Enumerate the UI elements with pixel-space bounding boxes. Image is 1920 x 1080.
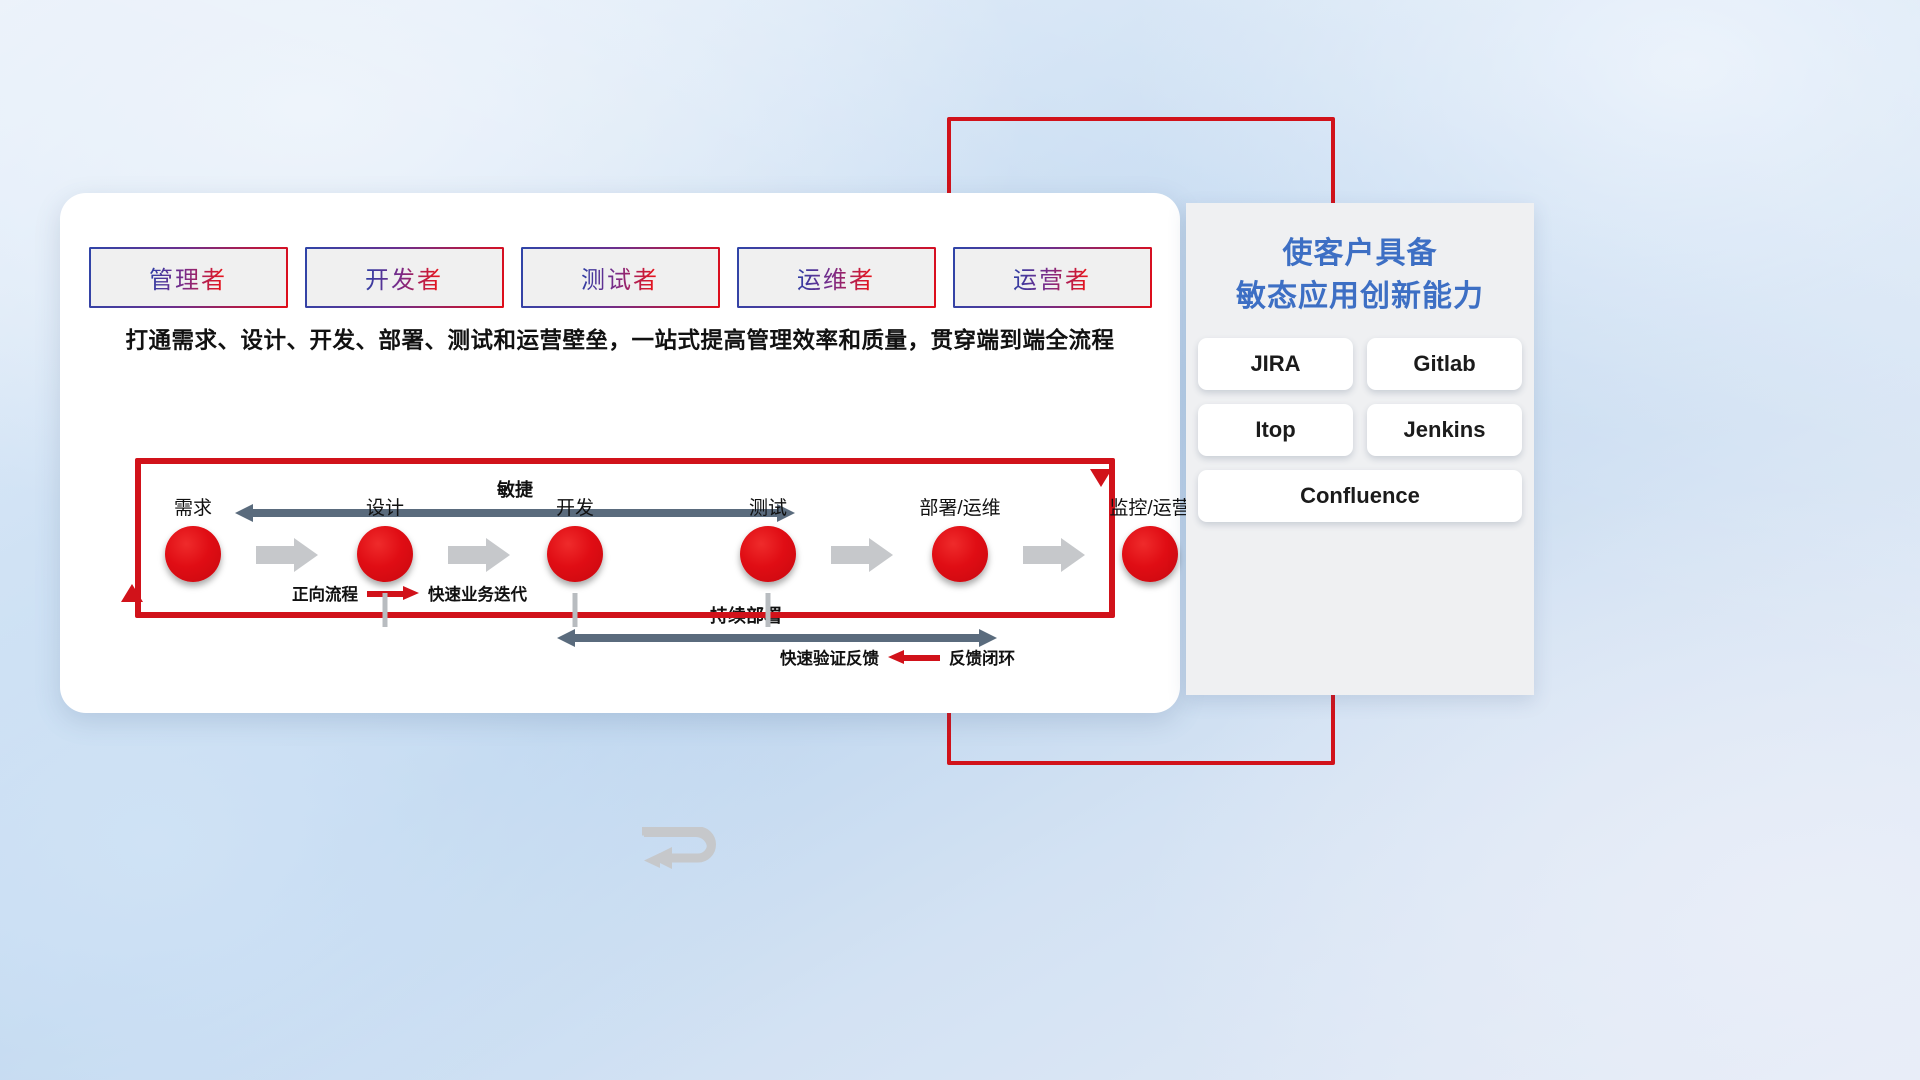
tool-chip-confluence[interactable]: Confluence: [1198, 470, 1522, 522]
role-label: 运维者: [797, 260, 875, 295]
pipeline-stage-deploy-ops[interactable]: 部署/运维: [900, 493, 1020, 582]
stage-dot-icon: [1122, 526, 1178, 582]
role-box-operations[interactable]: 运维者: [738, 248, 934, 306]
stage-stem: [766, 593, 771, 627]
role-box-business-operator[interactable]: 运营者: [954, 248, 1150, 306]
tool-chip-jenkins[interactable]: Jenkins: [1367, 404, 1522, 456]
stage-stem: [573, 593, 578, 627]
feedback-loop-arrow-down-icon: [1090, 469, 1112, 487]
value-proposition-panel: 使客户具备 敏态应用创新能力 JIRA Gitlab Itop Jenkins …: [1186, 203, 1534, 695]
arrow-head-left: [557, 629, 575, 647]
headline-text: 打通需求、设计、开发、部署、测试和运营壁垒，一站式提高管理效率和质量，贯穿端到端…: [60, 323, 1180, 355]
arrow-bar: [574, 634, 980, 642]
pipeline-stage-requirements[interactable]: 需求: [133, 493, 253, 582]
devops-pipeline: 需求 设计 开发 测试: [60, 493, 1180, 623]
stage-label: 测试: [708, 493, 828, 520]
chevron-head: [294, 538, 318, 572]
loop-back-arrow-icon: [638, 827, 724, 873]
pipeline-stage-develop[interactable]: 开发: [515, 493, 635, 582]
role-label: 管理者: [149, 260, 227, 295]
chevron-arrow-right-icon: [831, 538, 893, 572]
stage-dot-icon: [932, 526, 988, 582]
stage-stem: [383, 593, 388, 627]
role-box-manager[interactable]: 管理者: [90, 248, 286, 306]
stage-label: 部署/运维: [900, 493, 1020, 520]
role-box-tester[interactable]: 测试者: [522, 248, 718, 306]
pipeline-stage-design[interactable]: 设计: [325, 493, 445, 582]
chevron-tail: [831, 546, 871, 564]
tool-chip-itop[interactable]: Itop: [1198, 404, 1353, 456]
role-boxes-row: 管理者 开发者 测试者 运维者 运营者: [90, 248, 1150, 306]
chevron-head: [1061, 538, 1085, 572]
chevron-head: [869, 538, 893, 572]
legend-feedback-loop: 快速验证反馈 反馈闭环: [780, 645, 1015, 669]
legend-feedback-left-label: 快速验证反馈: [780, 645, 879, 669]
arrow-left-red-icon: [888, 650, 940, 664]
tool-chip-jira[interactable]: JIRA: [1198, 338, 1353, 390]
stage-dot-icon: [357, 526, 413, 582]
chevron-arrow-right-icon: [448, 538, 510, 572]
panel-title: 使客户具备 敏态应用创新能力: [1186, 233, 1534, 318]
tool-chip-gitlab[interactable]: Gitlab: [1367, 338, 1522, 390]
legend-feedback-right-label: 反馈闭环: [949, 645, 1015, 669]
main-diagram-card: 管理者 开发者 测试者 运维者 运营者 打通需求、设计、开发、部署、测试和运营壁…: [60, 193, 1180, 713]
stage-dot-icon: [740, 526, 796, 582]
role-label: 测试者: [581, 260, 659, 295]
pipeline-stage-test[interactable]: 测试: [708, 493, 828, 582]
role-box-developer[interactable]: 开发者: [306, 248, 502, 306]
panel-title-line2: 敏态应用创新能力: [1186, 276, 1534, 319]
stage-label: 需求: [133, 493, 253, 520]
stage-label: 设计: [325, 493, 445, 520]
chevron-tail: [448, 546, 488, 564]
chevron-arrow-right-icon: [256, 538, 318, 572]
stage-dot-icon: [547, 526, 603, 582]
role-label: 开发者: [365, 260, 443, 295]
stage-dot-icon: [165, 526, 221, 582]
chevron-head: [486, 538, 510, 572]
stage-label: 开发: [515, 493, 635, 520]
panel-title-line1: 使客户具备: [1186, 233, 1534, 276]
chevron-arrow-right-icon: [1023, 538, 1085, 572]
role-label: 运营者: [1013, 260, 1091, 295]
chevron-tail: [256, 546, 296, 564]
tool-chip-list: JIRA Gitlab Itop Jenkins Confluence: [1198, 338, 1522, 522]
chevron-tail: [1023, 546, 1063, 564]
